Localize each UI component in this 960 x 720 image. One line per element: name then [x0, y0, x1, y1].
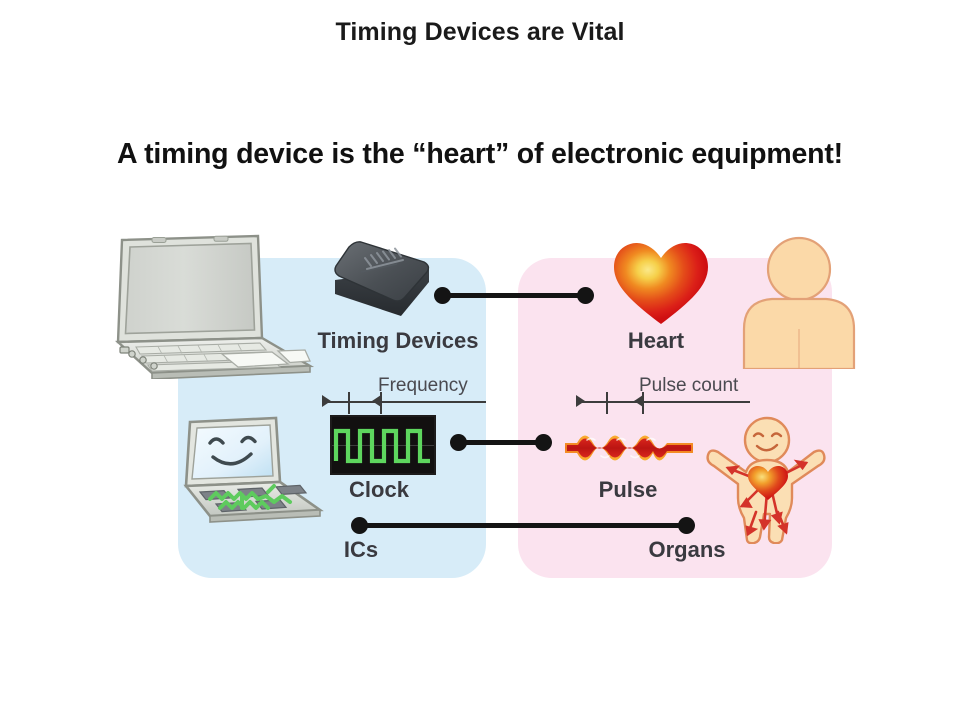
connector-clock-pulse — [457, 440, 545, 445]
connector-ics-organs — [358, 523, 688, 528]
pulse-wave-icon — [563, 424, 695, 472]
square-wave-icon — [332, 417, 434, 473]
analogy-diagram: Frequency Clock — [0, 0, 960, 720]
organs-label: Organs — [612, 537, 762, 563]
ics-label: ICs — [305, 537, 417, 563]
human-body-with-heart-icon — [706, 416, 828, 544]
clock-waveform-screen — [330, 415, 436, 475]
connector-timing-devices-heart — [441, 293, 587, 298]
human-silhouette-icon — [740, 233, 858, 369]
smiling-laptop-icon — [180, 416, 324, 540]
laptop-icon — [110, 234, 316, 379]
heart-label: Heart — [592, 328, 720, 354]
clock-label: Clock — [318, 477, 440, 503]
pulse-count-label: Pulse count — [639, 375, 738, 397]
heart-icon — [612, 240, 710, 328]
pulse-label: Pulse — [563, 477, 693, 503]
frequency-label: Frequency — [378, 375, 468, 397]
timing-devices-label: Timing Devices — [310, 328, 486, 354]
oscillator-package-icon — [331, 236, 433, 320]
